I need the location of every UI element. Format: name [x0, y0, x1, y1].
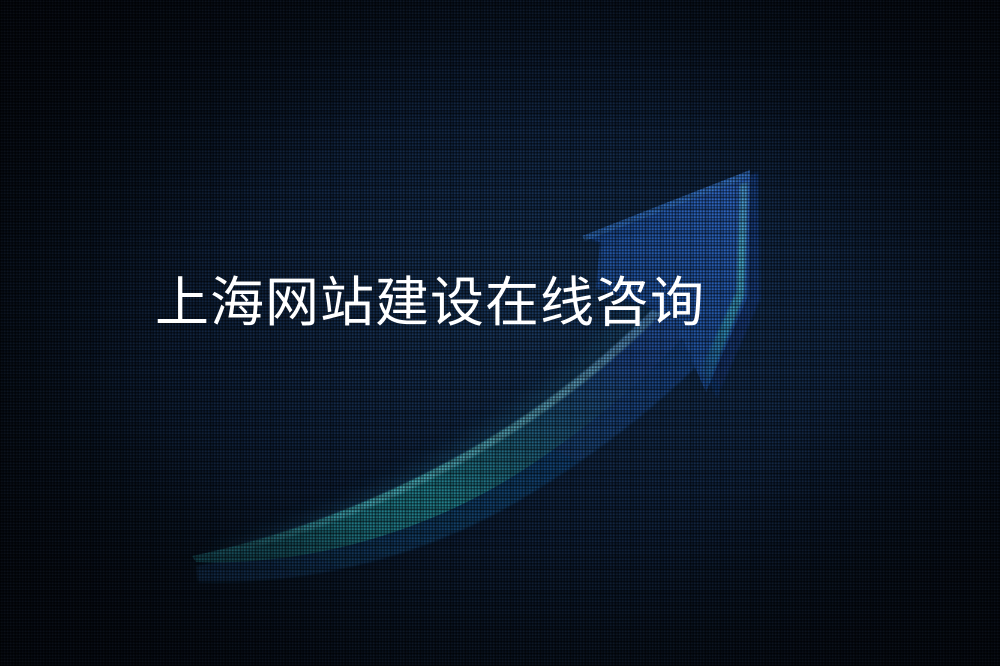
page-title: 上海网站建设在线咨询	[155, 276, 705, 330]
banner-canvas: 上海网站建设在线咨询	[0, 0, 1000, 666]
headline-layer: 上海网站建设在线咨询	[0, 0, 1000, 666]
